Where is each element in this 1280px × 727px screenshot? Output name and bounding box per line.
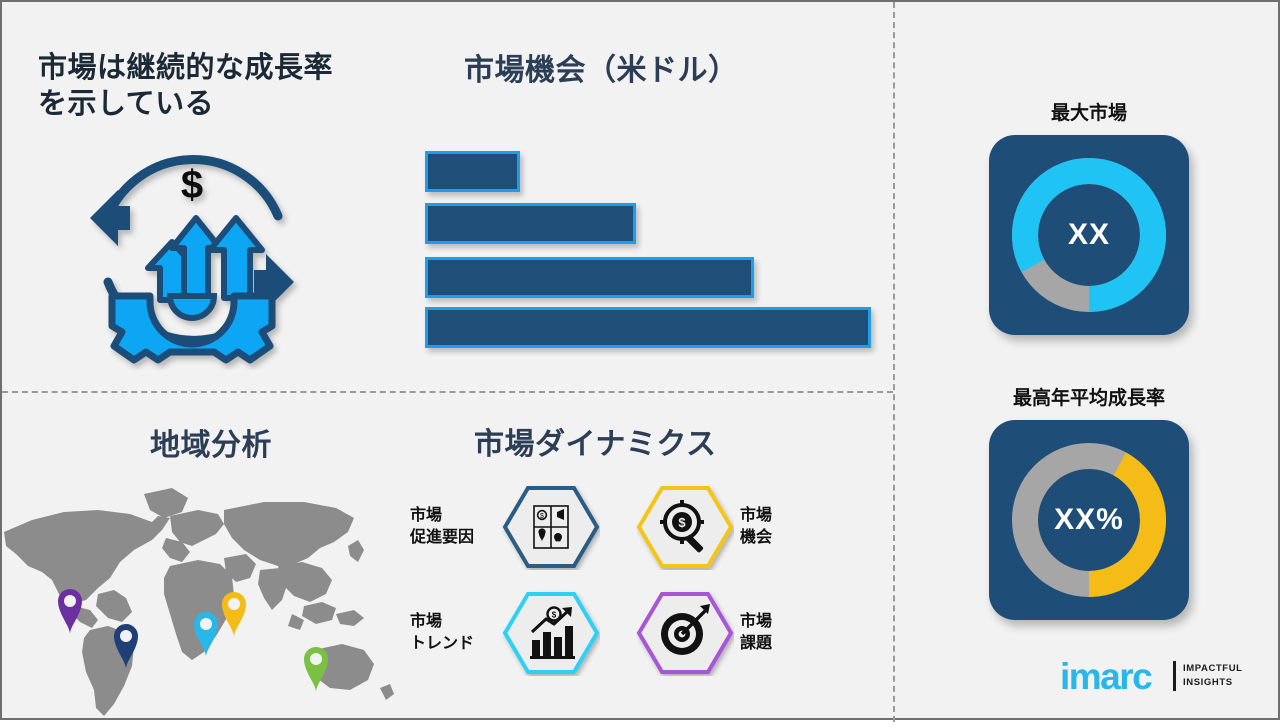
dynamics-row-1: 市場 促進要因 $ — [410, 484, 832, 570]
dynamics-row-2: 市場 トレンド $ — [410, 590, 832, 676]
logo-tagline-line1: IMPACTFUL — [1183, 663, 1243, 674]
kpi-card-largest-market: XX — [989, 135, 1189, 335]
kpi-title-largest-market: 最大市場 — [959, 98, 1219, 125]
market-opportunity-bar-chart — [417, 142, 887, 357]
logo-tagline-line2: INSIGHTS — [1183, 677, 1233, 688]
dynamics-hex-opportunities[interactable]: $ — [636, 484, 734, 570]
growth-panel-title: 市場は継続的な成長率 を示している — [38, 50, 388, 123]
slide-canvas: 市場は継続的な成長率 を示している $ — [0, 0, 1280, 720]
kpi-card-highest-cagr: XX% — [989, 420, 1189, 620]
vertical-divider — [893, 2, 895, 722]
logo-divider-bar — [1173, 661, 1176, 691]
svg-text:$: $ — [552, 611, 557, 620]
pin-middle-east-africa — [222, 592, 246, 637]
kpi-value-largest-market: XX — [989, 135, 1189, 335]
dynamics-hex-drivers[interactable]: $ — [502, 484, 600, 570]
pin-asia — [304, 647, 328, 692]
svg-text:$: $ — [181, 163, 203, 207]
growth-gear-arrows-icon: $ — [64, 130, 320, 370]
dynamics-panel-title: 市場ダイナミクス — [474, 426, 717, 464]
kpi-title-highest-cagr: 最高年平均成長率 — [959, 383, 1219, 410]
bar-2 — [425, 203, 636, 244]
opportunity-panel-title: 市場機会（米ドル） — [464, 52, 739, 90]
imarc-logo: imarc IMPACTFUL INSIGHTS — [1060, 654, 1250, 702]
svg-text:$: $ — [678, 515, 686, 530]
bar-4 — [425, 307, 871, 348]
dynamics-hex-challenges[interactable] — [636, 590, 734, 676]
dynamics-label-drivers: 市場 促進要因 — [410, 505, 502, 548]
dynamics-hex-trends[interactable]: $ — [502, 590, 600, 676]
bar-3 — [425, 257, 754, 298]
dynamics-label-trends: 市場 トレンド — [410, 611, 502, 654]
dynamics-label-challenges: 市場 課題 — [740, 611, 832, 654]
svg-text:$: $ — [540, 513, 544, 520]
world-map — [2, 454, 402, 722]
logo-tagline: IMPACTFUL INSIGHTS — [1183, 662, 1243, 691]
dynamics-label-opportunities: 市場 機会 — [740, 505, 832, 548]
kpi-value-highest-cagr: XX% — [989, 420, 1189, 620]
horizontal-divider — [2, 391, 893, 393]
bar-1 — [425, 151, 520, 192]
pin-north-america — [58, 589, 82, 634]
logo-wordmark: imarc — [1060, 658, 1151, 695]
